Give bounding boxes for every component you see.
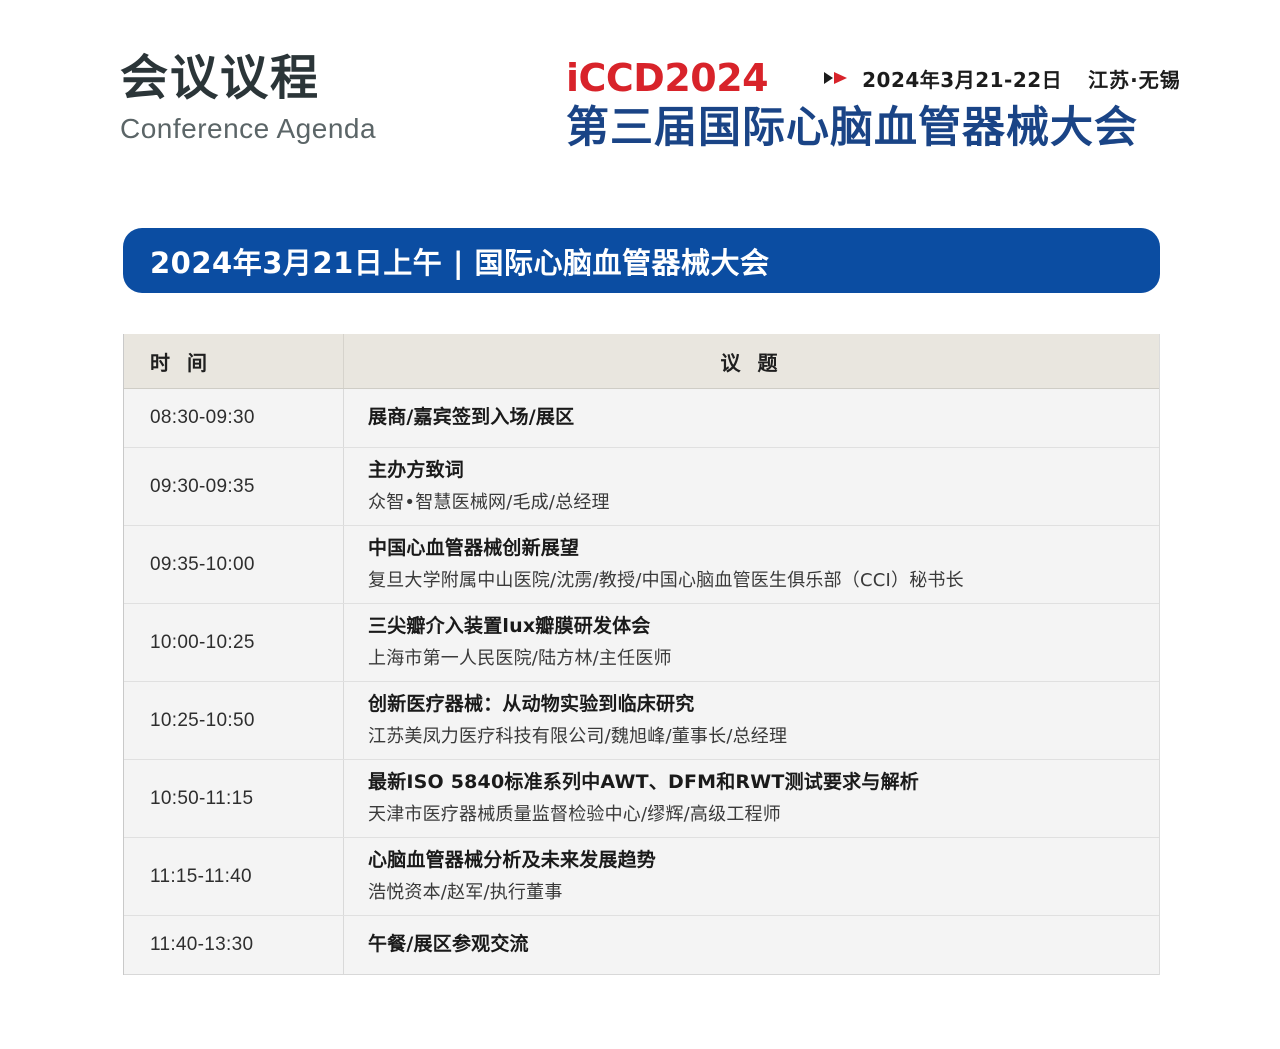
table-row[interactable]: 09:35-10:00 中国心血管器械创新展望 复旦大学附属中山医院/沈雳/教授… [124,526,1159,604]
row-topic-title: 主办方致词 [368,457,1135,485]
row-time: 10:50-11:15 [150,788,253,810]
row-topic-speaker: 众智•智慧医械网/毛成/总经理 [368,489,1135,516]
row-time-cell: 11:40-13:30 [124,916,344,974]
agenda-table: 时 间 议 题 08:30-09:30 展商/嘉宾签到入场/展区 09:30-0… [123,334,1160,975]
row-topic-title: 午餐/展区参观交流 [368,931,1135,959]
session-banner-label: 2024年3月21日上午 | 国际心脑血管器械大会 [123,240,770,282]
table-row[interactable]: 09:30-09:35 主办方致词 众智•智慧医械网/毛成/总经理 [124,448,1159,526]
logo-top-row: iCCD2024 2024年3月21-22日 江苏·无锡 [566,56,1176,100]
event-location: 江苏·无锡 [1088,64,1181,93]
row-topic-cell: 创新医疗器械：从动物实验到临床研究 江苏美凤力医疗科技有限公司/魏旭峰/董事长/… [344,682,1159,759]
session-banner: 2024年3月21日上午 | 国际心脑血管器械大会 [123,228,1160,293]
row-time-cell: 11:15-11:40 [124,838,344,915]
table-header-row: 时 间 议 题 [124,334,1159,389]
row-topic-speaker: 上海市第一人民医院/陆方林/主任医师 [368,645,1135,672]
row-time-cell: 10:50-11:15 [124,760,344,837]
table-header-topic: 议 题 [344,334,1159,388]
row-time: 10:25-10:50 [150,710,255,732]
row-time: 09:35-10:00 [150,554,255,576]
row-topic-speaker: 复旦大学附属中山医院/沈雳/教授/中国心脑血管医生俱乐部（CCI）秘书长 [368,567,1135,594]
row-topic-title: 中国心血管器械创新展望 [368,535,1135,563]
row-topic-title: 展商/嘉宾签到入场/展区 [368,404,1135,432]
table-row[interactable]: 10:25-10:50 创新医疗器械：从动物实验到临床研究 江苏美凤力医疗科技有… [124,682,1159,760]
double-triangle-icon [824,71,850,85]
table-header-topic-label: 议 题 [721,347,783,376]
table-row[interactable]: 11:15-11:40 心脑血管器械分析及未来发展趋势 浩悦资本/赵军/执行董事 [124,838,1159,916]
row-topic-title: 最新ISO 5840标准系列中AWT、DFM和RWT测试要求与解析 [368,769,1135,797]
row-time: 09:30-09:35 [150,476,255,498]
row-topic-cell: 中国心血管器械创新展望 复旦大学附属中山医院/沈雳/教授/中国心脑血管医生俱乐部… [344,526,1159,603]
row-topic-speaker: 天津市医疗器械质量监督检验中心/缪辉/高级工程师 [368,801,1135,828]
row-topic-speaker: 浩悦资本/赵军/执行董事 [368,879,1135,906]
iccd-logo: iCCD2024 [566,59,768,97]
agenda-page: 会议议程 Conference Agenda iCCD2024 2024年3月2… [0,0,1280,1049]
row-topic-cell: 三尖瓣介入装置lux瓣膜研发体会 上海市第一人民医院/陆方林/主任医师 [344,604,1159,681]
row-topic-speaker: 江苏美凤力医疗科技有限公司/魏旭峰/董事长/总经理 [368,723,1135,750]
table-row[interactable]: 11:40-13:30 午餐/展区参观交流 [124,916,1159,975]
table-header-time: 时 间 [124,334,344,388]
row-topic-cell: 心脑血管器械分析及未来发展趋势 浩悦资本/赵军/执行董事 [344,838,1159,915]
row-topic-cell: 最新ISO 5840标准系列中AWT、DFM和RWT测试要求与解析 天津市医疗器… [344,760,1159,837]
row-topic-cell: 主办方致词 众智•智慧医械网/毛成/总经理 [344,448,1159,525]
row-time-cell: 08:30-09:30 [124,389,344,447]
row-time: 10:00-10:25 [150,632,255,654]
row-time: 08:30-09:30 [150,407,255,429]
row-topic-title: 创新医疗器械：从动物实验到临床研究 [368,691,1135,719]
event-logo-block: iCCD2024 2024年3月21-22日 江苏·无锡 第三届国际心脑血管器械… [566,56,1176,153]
row-time: 11:15-11:40 [150,866,252,888]
page-header: 会议议程 Conference Agenda iCCD2024 2024年3月2… [0,0,1280,200]
event-date: 2024年3月21-22日 [862,64,1062,93]
row-topic-title: 三尖瓣介入装置lux瓣膜研发体会 [368,613,1135,641]
page-title: 会议议程 [120,52,376,106]
event-meta: 2024年3月21-22日 江苏·无锡 [824,64,1181,93]
row-time-cell: 10:25-10:50 [124,682,344,759]
event-name-cn: 第三届国际心脑血管器械大会 [566,104,1176,153]
row-time-cell: 10:00-10:25 [124,604,344,681]
table-header-time-label: 时 间 [150,347,212,376]
row-time-cell: 09:35-10:00 [124,526,344,603]
row-time-cell: 09:30-09:35 [124,448,344,525]
page-subtitle: Conference Agenda [120,112,376,146]
row-topic-title: 心脑血管器械分析及未来发展趋势 [368,847,1135,875]
table-row[interactable]: 10:00-10:25 三尖瓣介入装置lux瓣膜研发体会 上海市第一人民医院/陆… [124,604,1159,682]
page-title-block: 会议议程 Conference Agenda [120,52,376,145]
row-topic-cell: 展商/嘉宾签到入场/展区 [344,389,1159,447]
row-time: 11:40-13:30 [150,934,253,956]
table-row[interactable]: 10:50-11:15 最新ISO 5840标准系列中AWT、DFM和RWT测试… [124,760,1159,838]
row-topic-cell: 午餐/展区参观交流 [344,916,1159,974]
table-row[interactable]: 08:30-09:30 展商/嘉宾签到入场/展区 [124,389,1159,448]
